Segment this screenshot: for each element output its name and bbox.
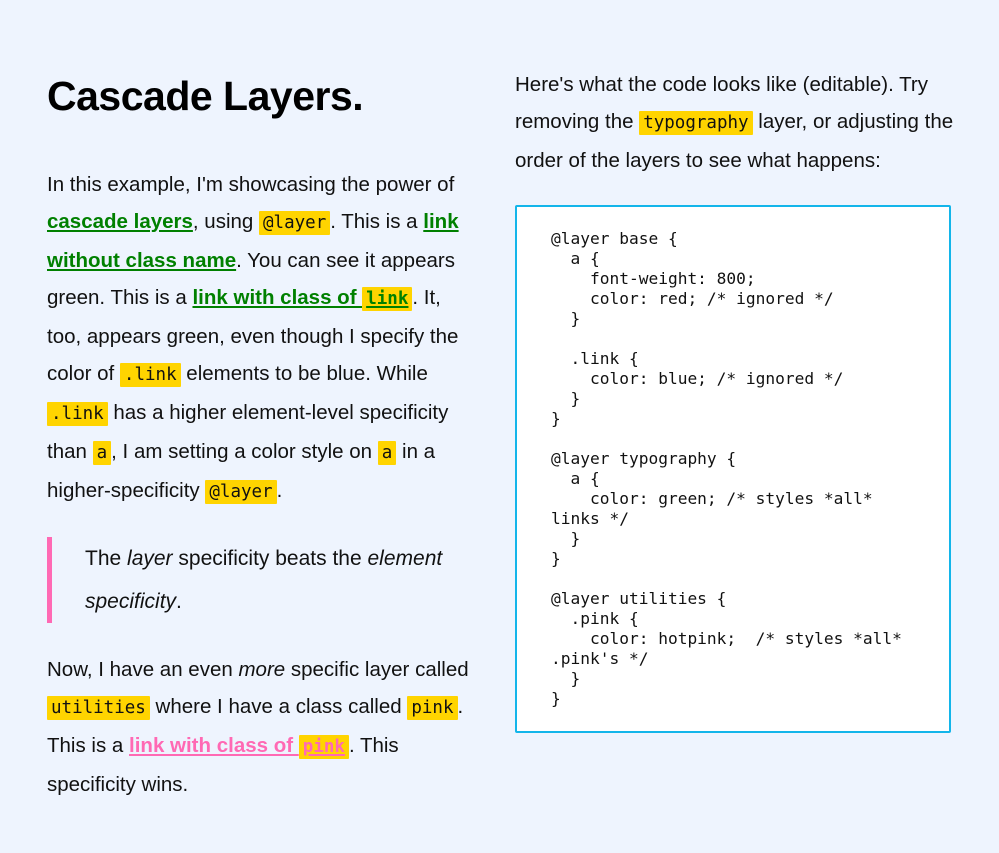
code-link-class: link	[362, 287, 412, 311]
text-segment: , I am setting a color style on	[111, 440, 378, 463]
link-cascade-layers[interactable]: cascade layers	[47, 210, 193, 233]
text-segment: In this example, I'm showcasing the powe…	[47, 173, 454, 196]
link-with-class-of-link[interactable]: link with class of link	[192, 286, 412, 309]
text-segment: where I have a class called	[150, 695, 408, 718]
code-a-selector-2: a	[378, 441, 397, 465]
code-pink-class: pink	[407, 696, 457, 720]
text-segment: specific layer called	[285, 658, 468, 681]
page-title: Cascade Layers.	[47, 72, 479, 120]
code-editor-content[interactable]: @layer base { a { font-weight: 800; colo…	[551, 229, 929, 709]
code-at-layer-1: @layer	[259, 211, 330, 235]
text-segment: . This is a	[330, 210, 423, 233]
left-column: Cascade Layers. In this example, I'm sho…	[47, 72, 479, 803]
text-segment: .	[277, 479, 283, 502]
link-label: link with class of	[129, 734, 299, 757]
text-segment: elements to be blue. While	[181, 362, 428, 385]
text-segment: .	[176, 590, 182, 613]
code-pink-link-class: pink	[299, 735, 349, 759]
text-segment: The	[85, 547, 127, 570]
emphasis-more: more	[238, 658, 285, 681]
text-segment: , using	[193, 210, 259, 233]
right-column: Here's what the code looks like (editabl…	[515, 66, 955, 733]
code-a-selector-1: a	[93, 441, 112, 465]
text-segment: specificity beats the	[173, 547, 368, 570]
code-editor-panel[interactable]: @layer base { a { font-weight: 800; colo…	[515, 205, 951, 733]
text-segment: Now, I have an even	[47, 658, 238, 681]
code-dot-link-2: .link	[47, 402, 108, 426]
emphasis-layer: layer	[127, 547, 173, 570]
page-root: Cascade Layers. In this example, I'm sho…	[0, 0, 999, 853]
blockquote-layer-specificity: The layer specificity beats the element …	[47, 537, 479, 623]
code-intro-text: Here's what the code looks like (editabl…	[515, 66, 955, 179]
code-utilities: utilities	[47, 696, 150, 720]
code-at-layer-2: @layer	[205, 480, 276, 504]
code-typography-layer: typography	[639, 111, 752, 135]
code-dot-link-1: .link	[120, 363, 181, 387]
paragraph-cascade-explainer: In this example, I'm showcasing the powe…	[47, 166, 479, 511]
link-with-class-of-pink[interactable]: link with class of pink	[129, 734, 349, 757]
paragraph-utilities-explainer: Now, I have an even more specific layer …	[47, 651, 479, 803]
link-label: link with class of	[192, 286, 362, 309]
